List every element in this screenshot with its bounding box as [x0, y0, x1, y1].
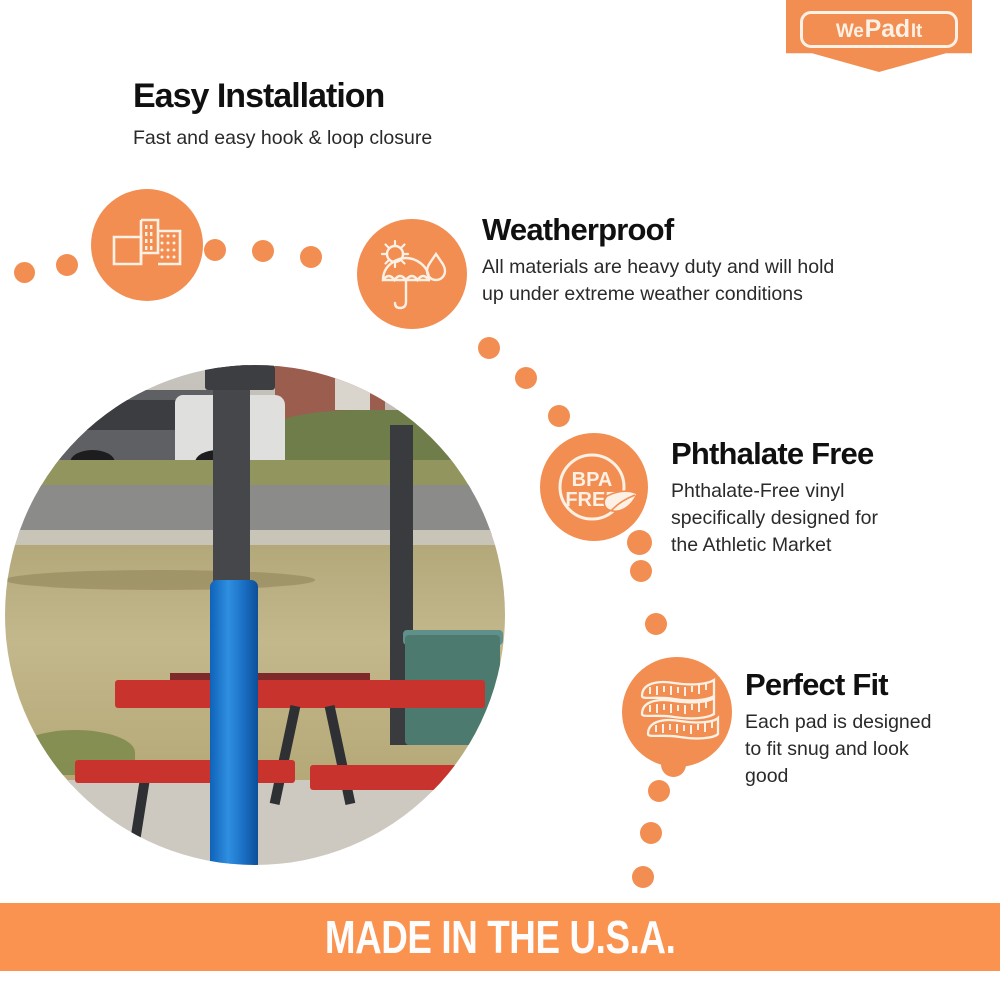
feature-perfect-fit: Perfect Fit Each pad is designed to fit …: [745, 668, 931, 790]
feature-title: Perfect Fit: [745, 668, 931, 702]
weatherproof-glyph: [373, 237, 451, 311]
logo-text-we: We: [836, 21, 864, 43]
photo-picnic-table-top: [115, 680, 485, 708]
trail-dot: [548, 405, 570, 427]
feature-description: Each pad is designed to fit snug and loo…: [745, 709, 931, 790]
feature-title: Phthalate Free: [671, 437, 878, 471]
infographic-root: We Pad It Easy Installation Fast and eas…: [0, 0, 1000, 987]
trail-dot: [478, 337, 500, 359]
trail-dot: [252, 240, 274, 262]
bpa-free-leaf-icon: BPA FREE: [540, 433, 648, 541]
page-subtitle: Fast and easy hook & loop closure: [133, 125, 432, 152]
photo-hedge: [265, 410, 505, 465]
headline-block: Easy Installation Fast and easy hook & l…: [133, 78, 432, 152]
made-in-usa-text: MADE IN THE U.S.A.: [325, 910, 676, 964]
logo-outline-box: We Pad It: [800, 11, 958, 48]
trail-dot: [14, 262, 35, 283]
photo-bench: [75, 760, 295, 783]
trail-dot: [645, 613, 667, 635]
feature-phthalate-free: Phthalate Free Phthalate-Free vinyl spec…: [671, 437, 878, 559]
trail-dot: [640, 822, 662, 844]
photo-blue-pole-pad: [210, 580, 258, 865]
trail-dot: [204, 239, 226, 261]
photo-road: [5, 485, 505, 535]
leaf-shape: [604, 491, 637, 511]
feature-description: Phthalate-Free vinyl specifically design…: [671, 478, 878, 559]
feature-title: Weatherproof: [482, 213, 834, 247]
brand-logo[interactable]: We Pad It: [786, 0, 972, 72]
feature-weatherproof: Weatherproof All materials are heavy dut…: [482, 213, 834, 308]
trail-dot: [300, 246, 322, 268]
logo-text-pad: Pad: [865, 15, 910, 44]
measuring-tape-glyph: [634, 672, 720, 752]
trail-dot: [630, 560, 652, 582]
trail-dot: [632, 866, 654, 888]
trail-dot: [56, 254, 78, 276]
photo-window: [335, 375, 370, 410]
weatherproof-sun-umbrella-rain-icon: [357, 219, 467, 329]
trail-dot: [648, 780, 670, 802]
logo-text-it: It: [911, 21, 922, 43]
bpa-label-top: BPA: [572, 469, 613, 491]
photo-pole-cap: [205, 365, 275, 390]
hook-and-loop-glyph: [111, 215, 183, 275]
trail-dot: [515, 367, 537, 389]
made-in-usa-banner: MADE IN THE U.S.A.: [0, 903, 1000, 971]
tape-accent-dot: [661, 752, 686, 777]
hook-and-loop-icon: [91, 189, 203, 301]
bpa-free-glyph: BPA FREE: [547, 440, 641, 534]
bpa-accent-dot: [627, 530, 652, 555]
logo-wordmark: We Pad It: [836, 15, 922, 44]
photo-metal-pole: [213, 365, 251, 590]
product-photo: [5, 365, 505, 865]
feature-description: All materials are heavy duty and will ho…: [482, 254, 834, 308]
photo-bench: [310, 765, 485, 790]
measuring-tape-icon: [622, 657, 732, 767]
photo-dirt-patch: [5, 570, 315, 590]
page-title: Easy Installation: [133, 78, 432, 115]
